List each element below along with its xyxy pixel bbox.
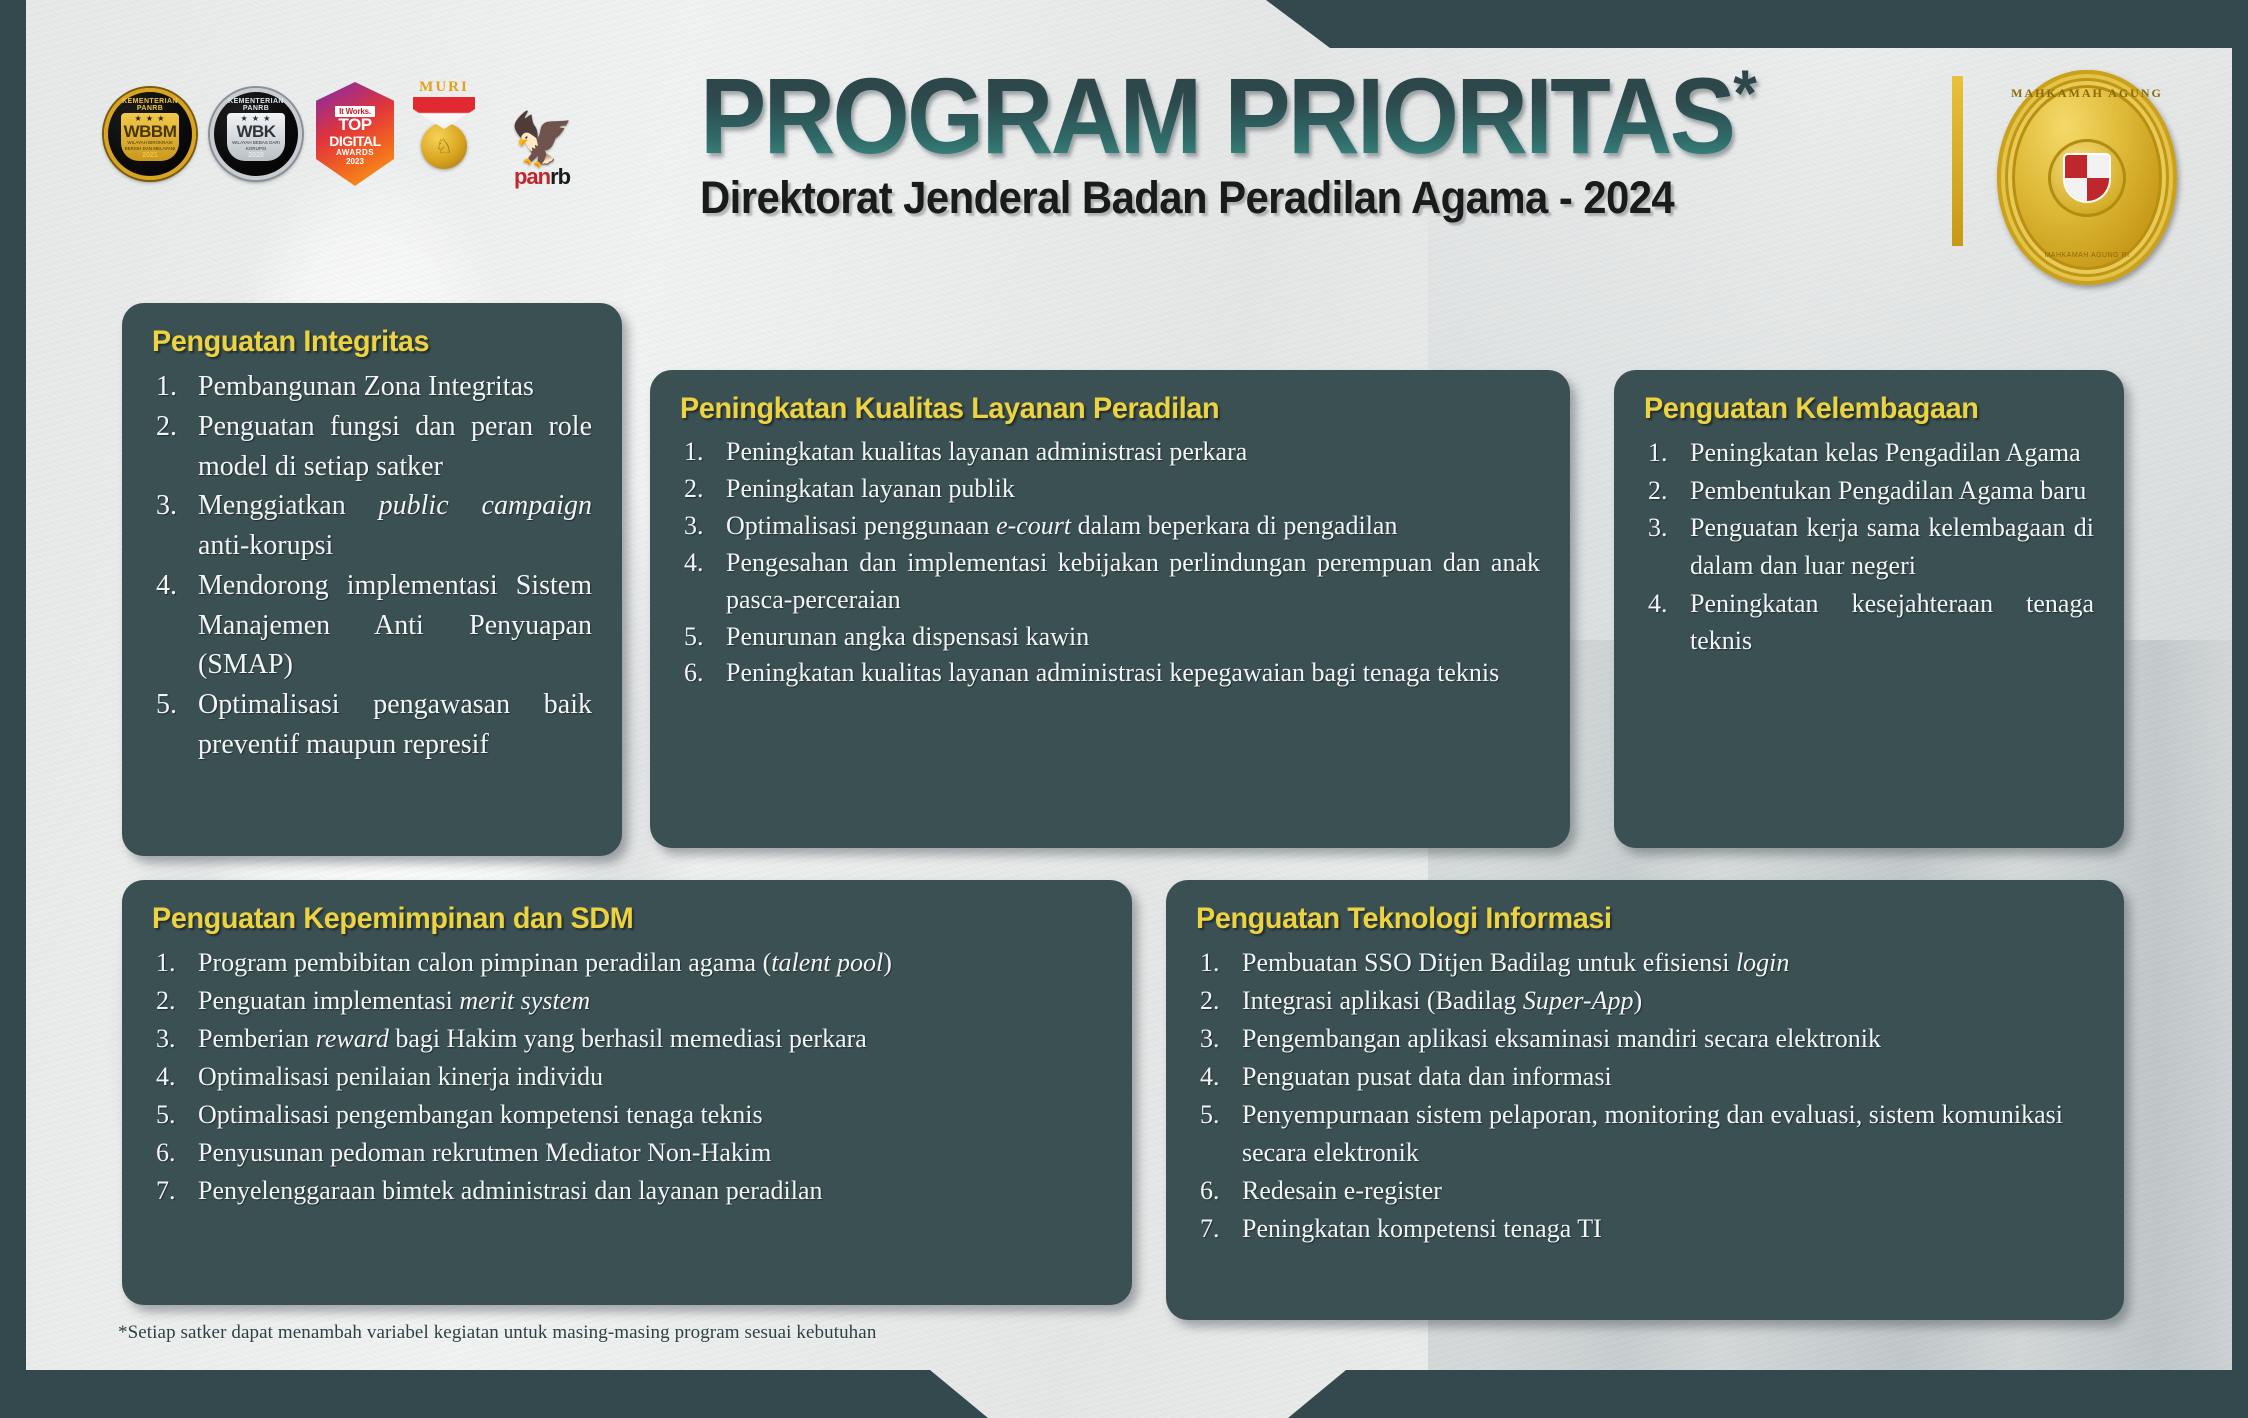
muri-ribbon-icon xyxy=(413,97,475,129)
wbbm-year: 2021 xyxy=(142,152,158,159)
card-title: Penguatan Kelembagaan xyxy=(1644,392,2076,426)
list-item: Optimalisasi pengembangan kompetensi ten… xyxy=(152,1096,1102,1134)
header: KEMENTERIAN PANRB ★ ★ ★ WBBM WILAYAH BIR… xyxy=(0,0,2248,300)
wbbm-subtitle: WILAYAH BIROKRASI BERSIH DAN MELAYANI xyxy=(121,140,179,151)
card-penguatan-teknologi-informasi: Penguatan Teknologi Informasi Pembuatan … xyxy=(1166,880,2124,1320)
top-digital-line3: AWARDS xyxy=(336,148,374,157)
title-block: PROGRAM PRIORITAS* Direktorat Jenderal B… xyxy=(700,62,1930,224)
mahkamah-agung-seal-ribbon-label: MAHKAMAH AGUNG RI xyxy=(1997,252,2177,259)
wbbm-badge: KEMENTERIAN PANRB ★ ★ ★ WBBM WILAYAH BIR… xyxy=(104,88,196,180)
page-title: PROGRAM PRIORITAS* xyxy=(700,62,1832,168)
list-item: Program pembibitan calon pimpinan peradi… xyxy=(152,944,1102,982)
wbk-ring-label: KEMENTERIAN PANRB xyxy=(214,98,298,112)
card-list: Pembangunan Zona IntegritasPenguatan fun… xyxy=(152,367,592,765)
list-item: Penguatan pusat data dan informasi xyxy=(1196,1058,2094,1096)
footnote: *Setiap satker dapat menambah variabel k… xyxy=(118,1322,876,1344)
list-item: Penurunan angka dispensasi kawin xyxy=(680,619,1540,656)
list-item: Mendorong implementasi Sistem Manajemen … xyxy=(152,566,592,685)
mahkamah-agung-seal-center xyxy=(2048,139,2126,217)
wbk-badge: KEMENTERIAN PANRB ★ ★ ★ WBK WILAYAH BEBA… xyxy=(210,88,302,180)
list-item: Redesain e-register xyxy=(1196,1172,2094,1210)
list-item: Penguatan implementasi merit system xyxy=(152,982,1102,1020)
top-digital-awards-badge: It Works. TOP DIGITAL AWARDS 2023 xyxy=(316,82,394,186)
top-digital-line1: TOP xyxy=(338,117,371,133)
card-title: Peningkatan Kualitas Layanan Peradilan xyxy=(680,392,1506,426)
list-item: Pembangunan Zona Integritas xyxy=(152,367,592,407)
panrb-label-pan: pan xyxy=(514,164,550,189)
list-item: Peningkatan kelas Pengadilan Agama xyxy=(1644,434,2094,472)
list-item: Penyempurnaan sistem pelaporan, monitori… xyxy=(1196,1096,2094,1172)
garuda-pancasila-icon: 🦅 xyxy=(510,117,575,164)
list-item: Integrasi aplikasi (Badilag Super-App) xyxy=(1196,982,2094,1020)
list-item: Pemberian reward bagi Hakim yang berhasi… xyxy=(152,1020,1102,1058)
wbk-subtitle: WILAYAH BEBAS DARI KORUPSI xyxy=(227,140,285,151)
card-penguatan-kelembagaan: Penguatan Kelembagaan Peningkatan kelas … xyxy=(1614,370,2124,848)
list-item: Pengesahan dan implementasi kebijakan pe… xyxy=(680,545,1540,619)
frame-bottom-left-bar xyxy=(0,1370,990,1418)
list-item: Penyelenggaraan bimtek administrasi dan … xyxy=(152,1172,1102,1210)
wbbm-ring-label: KEMENTERIAN PANRB xyxy=(108,98,192,112)
card-penguatan-integritas: Penguatan Integritas Pembangunan Zona In… xyxy=(122,303,622,856)
list-item: Penyusunan pedoman rekrutmen Mediator No… xyxy=(152,1134,1102,1172)
card-penguatan-kepemimpinan-dan-sdm: Penguatan Kepemimpinan dan SDM Program p… xyxy=(122,880,1132,1305)
list-item: Peningkatan kesejahteraan tenaga teknis xyxy=(1644,585,2094,660)
muri-medal: MURI ♘ xyxy=(408,79,480,189)
page-subtitle: Direktorat Jenderal Badan Peradilan Agam… xyxy=(700,172,1844,224)
list-item: Optimalisasi pengawasan baik preventif m… xyxy=(152,685,592,765)
list-item: Pengembangan aplikasi eksaminasi mandiri… xyxy=(1196,1020,2094,1058)
list-item: Peningkatan kualitas layanan administras… xyxy=(680,655,1540,692)
list-item: Peningkatan kualitas layanan administras… xyxy=(680,434,1540,471)
wbk-year: 2020 xyxy=(248,152,264,159)
card-list: Program pembibitan calon pimpinan peradi… xyxy=(152,944,1102,1210)
card-list: Peningkatan kelas Pengadilan AgamaPemben… xyxy=(1644,434,2094,660)
award-logo-row: KEMENTERIAN PANRB ★ ★ ★ WBBM WILAYAH BIR… xyxy=(104,78,590,190)
panrb-logo: 🦅 panrb xyxy=(494,78,590,190)
frame-bottom-right-bar xyxy=(1288,1370,2248,1418)
list-item: Peningkatan kompetensi tenaga TI xyxy=(1196,1210,2094,1248)
list-item: Penguatan kerja sama kelembagaan di dala… xyxy=(1644,509,2094,584)
wbk-acronym: WBK xyxy=(236,123,275,140)
mahkamah-agung-seal: MAHKAMAH AGUNG MAHKAMAH AGUNG RI xyxy=(1997,70,2177,285)
card-peningkatan-kualitas-layanan-peradilan: Peningkatan Kualitas Layanan Peradilan P… xyxy=(650,370,1570,848)
card-title: Penguatan Teknologi Informasi xyxy=(1196,902,2058,936)
card-list: Peningkatan kualitas layanan administras… xyxy=(680,434,1540,692)
panrb-label-rb: rb xyxy=(550,164,570,189)
list-item: Optimalisasi penggunaan e-court dalam be… xyxy=(680,508,1540,545)
muri-label: MURI xyxy=(419,79,469,96)
list-item: Pembentukan Pengadilan Agama baru xyxy=(1644,472,2094,510)
page-title-asterisk: * xyxy=(1733,56,1754,130)
mahkamah-agung-seal-ring-label: MAHKAMAH AGUNG xyxy=(1997,86,2177,101)
card-list: Pembuatan SSO Ditjen Badilag untuk efisi… xyxy=(1196,944,2094,1248)
title-divider xyxy=(1952,76,1963,246)
card-title: Penguatan Kepemimpinan dan SDM xyxy=(152,902,1064,936)
list-item: Penguatan fungsi dan peran role model di… xyxy=(152,407,592,487)
mahkamah-agung-shield-icon xyxy=(2065,155,2109,201)
top-digital-year: 2023 xyxy=(346,157,364,166)
list-item: Optimalisasi penilaian kinerja individu xyxy=(152,1058,1102,1096)
page-title-text: PROGRAM PRIORITAS xyxy=(700,55,1733,176)
wbbm-acronym: WBBM xyxy=(124,123,177,140)
muri-coin-icon: ♘ xyxy=(421,123,467,169)
card-title: Penguatan Integritas xyxy=(152,325,574,359)
list-item: Pembuatan SSO Ditjen Badilag untuk efisi… xyxy=(1196,944,2094,982)
list-item: Menggiatkan public campaign anti-korupsi xyxy=(152,486,592,566)
list-item: Peningkatan layanan publik xyxy=(680,471,1540,508)
top-digital-line2: DIGITAL xyxy=(329,134,380,148)
